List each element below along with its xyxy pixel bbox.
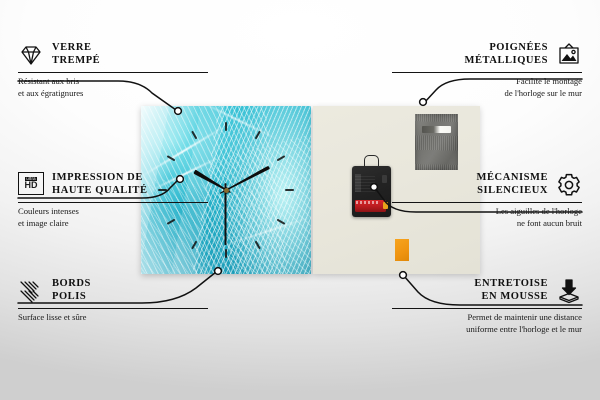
callout-title: ENTRETOISE EN MOUSSE [474,278,548,304]
callout-title: POIGNÉES MÉTALLIQUES [465,42,548,68]
callout-title: VERRE TREMPÉ [52,42,100,68]
callout-mecanisme-silencieux: MÉCANISME SILENCIEUX Les aiguilles de l'… [392,172,582,229]
callout-divider [392,308,582,309]
foam-spacer-shadow [404,244,415,264]
callout-header: ENTRETOISE EN MOUSSE [392,278,582,304]
metal-grain [415,114,458,169]
foam-spacer [395,239,409,261]
callout-subtitle: Résistant aux bris et aux égratignures [18,76,208,99]
hour-tick [226,189,294,191]
picture-frame-hanger-icon [556,42,582,68]
metal-hanger-plate [415,114,458,169]
callout-title: MÉCANISME SILENCIEUX [477,172,548,198]
callout-divider [18,202,208,203]
callout-header: ultra HD IMPRESSION DE HAUTE QUALITÉ [18,172,208,198]
clock-mechanism [352,166,390,216]
gear-icon [556,172,582,198]
battery-label [356,201,378,204]
mechanism-knob [382,175,387,183]
callout-subtitle: Facilite le montage de l'horloge sur le … [392,76,582,99]
callout-divider [392,72,582,73]
callout-verre-trempe: VERRE TREMPÉ Résistant aux bris et aux é… [18,42,208,99]
callout-subtitle: Les aiguilles de l'horloge ne font aucun… [392,206,582,229]
callout-impression-haute-qualite: ultra HD IMPRESSION DE HAUTE QUALITÉ Cou… [18,172,208,229]
callout-header: POIGNÉES MÉTALLIQUES [392,42,582,68]
battery [355,200,386,212]
callout-header: VERRE TREMPÉ [18,42,208,68]
battery-terminal [383,202,388,209]
diamond-icon [18,42,44,68]
callout-title: BORDS POLIS [52,278,91,304]
callout-subtitle: Surface lisse et sûre [18,312,208,323]
foam-spacer-arrow-icon [556,278,582,304]
hour-tick [225,122,227,190]
callout-bords-polis: BORDS POLIS Surface lisse et sûre [18,278,208,324]
mechanism-detail [355,174,375,192]
callout-entretoise-en-mousse: ENTRETOISE EN MOUSSE Permet de maintenir… [392,278,582,335]
polished-edge-icon [18,278,44,304]
callout-subtitle: Couleurs intenses et image claire [18,206,208,229]
connector-dot-poignees [420,99,427,106]
clock-center-cap [224,188,229,193]
callout-divider [18,72,208,73]
hanger-slot [422,126,452,133]
callout-divider [392,202,582,203]
ultra-hd-icon: ultra HD [18,172,44,198]
callout-title: IMPRESSION DE HAUTE QUALITÉ [52,172,148,198]
callout-subtitle: Permet de maintenir une distance uniform… [392,312,582,335]
callout-header: BORDS POLIS [18,278,208,304]
callout-header: MÉCANISME SILENCIEUX [392,172,582,198]
callout-divider [18,308,208,309]
callout-poignees-metalliques: POIGNÉES MÉTALLIQUES Facilite le montage… [392,42,582,99]
hanging-loop [364,155,379,168]
